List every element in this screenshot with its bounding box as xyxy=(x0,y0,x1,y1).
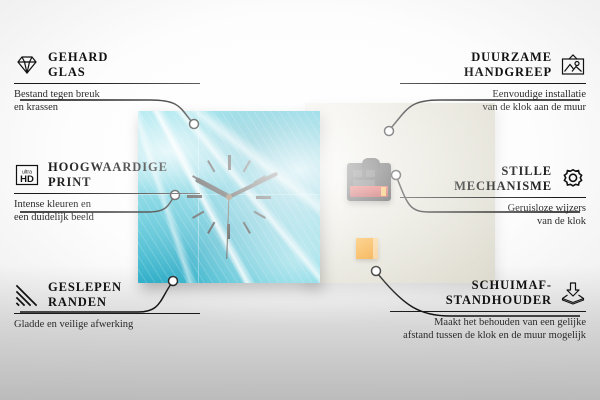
feature-title: SCHUIMAF- STANDHOUDER xyxy=(446,278,552,307)
feature-stille-mechanisme: STILLE MECHANISME Geruisloze wijzers van… xyxy=(466,164,586,228)
feature-gehard-glas: GEHARD GLAS Bestand tegen breuk en krass… xyxy=(14,50,200,114)
feature-divider xyxy=(14,193,200,194)
feature-hoogwaardige-print: ultra HD HOOGWAARDIGE PRINT Intense kleu… xyxy=(14,160,200,224)
feature-divider xyxy=(14,313,200,314)
beveled-edge-icon xyxy=(14,283,40,307)
feature-subtitle: Eenvoudige installatie van de klok aan d… xyxy=(400,89,586,114)
svg-text:HD: HD xyxy=(20,174,34,185)
feature-header: GESLEPEN RANDEN xyxy=(14,280,200,309)
feature-geslepen-randen: GESLEPEN RANDEN Gladde en veilige afwerk… xyxy=(14,280,200,332)
feature-header: ultra HD HOOGWAARDIGE PRINT xyxy=(14,160,200,189)
feature-title: GEHARD GLAS xyxy=(48,50,108,79)
feature-header: GEHARD GLAS xyxy=(14,50,200,79)
feature-title: HOOGWAARDIGE PRINT xyxy=(48,160,168,189)
feature-subtitle: Bestand tegen breuk en krassen xyxy=(14,89,200,114)
feature-schuimaf-standhouder: SCHUIMAF- STANDHOUDER Maakt het behouden… xyxy=(466,278,586,342)
feature-duurzame-handgreep: DUURZAME HANDGREEP Eenvoudige installati… xyxy=(466,50,586,114)
feature-header: STILLE MECHANISME xyxy=(466,164,586,193)
feature-header: DUURZAME HANDGREEP xyxy=(466,50,586,79)
mechanism-battery xyxy=(350,186,388,197)
foam-spacer xyxy=(356,238,378,259)
feature-subtitle: Gladde en veilige afwerking xyxy=(14,319,200,332)
feature-title: DUURZAME HANDGREEP xyxy=(464,50,552,79)
picture-frame-icon xyxy=(560,53,586,77)
feature-subtitle: Geruisloze wijzers van de klok xyxy=(400,203,586,228)
mechanism-hanger-lug xyxy=(362,158,380,169)
feature-divider xyxy=(390,311,586,312)
feature-subtitle: Intense kleuren en een duidelijk beeld xyxy=(14,199,200,224)
feature-subtitle: Maakt het behouden van een gelijke afsta… xyxy=(390,317,586,342)
infographic-canvas: GEHARD GLAS Bestand tegen breuk en krass… xyxy=(0,0,600,400)
feature-divider xyxy=(14,83,200,84)
feature-title: GESLEPEN RANDEN xyxy=(48,280,122,309)
download-pad-icon xyxy=(560,281,586,305)
gear-icon xyxy=(560,167,586,191)
diamond-icon xyxy=(14,53,40,77)
feature-header: SCHUIMAF- STANDHOUDER xyxy=(466,278,586,307)
feature-title: STILLE MECHANISME xyxy=(454,164,552,193)
mechanism-detail xyxy=(353,170,362,177)
clock-mechanism xyxy=(347,163,391,201)
ultra-hd-icon: ultra HD xyxy=(14,163,40,187)
feature-divider xyxy=(400,83,586,84)
mechanism-detail xyxy=(366,170,375,177)
feature-divider xyxy=(400,197,586,198)
